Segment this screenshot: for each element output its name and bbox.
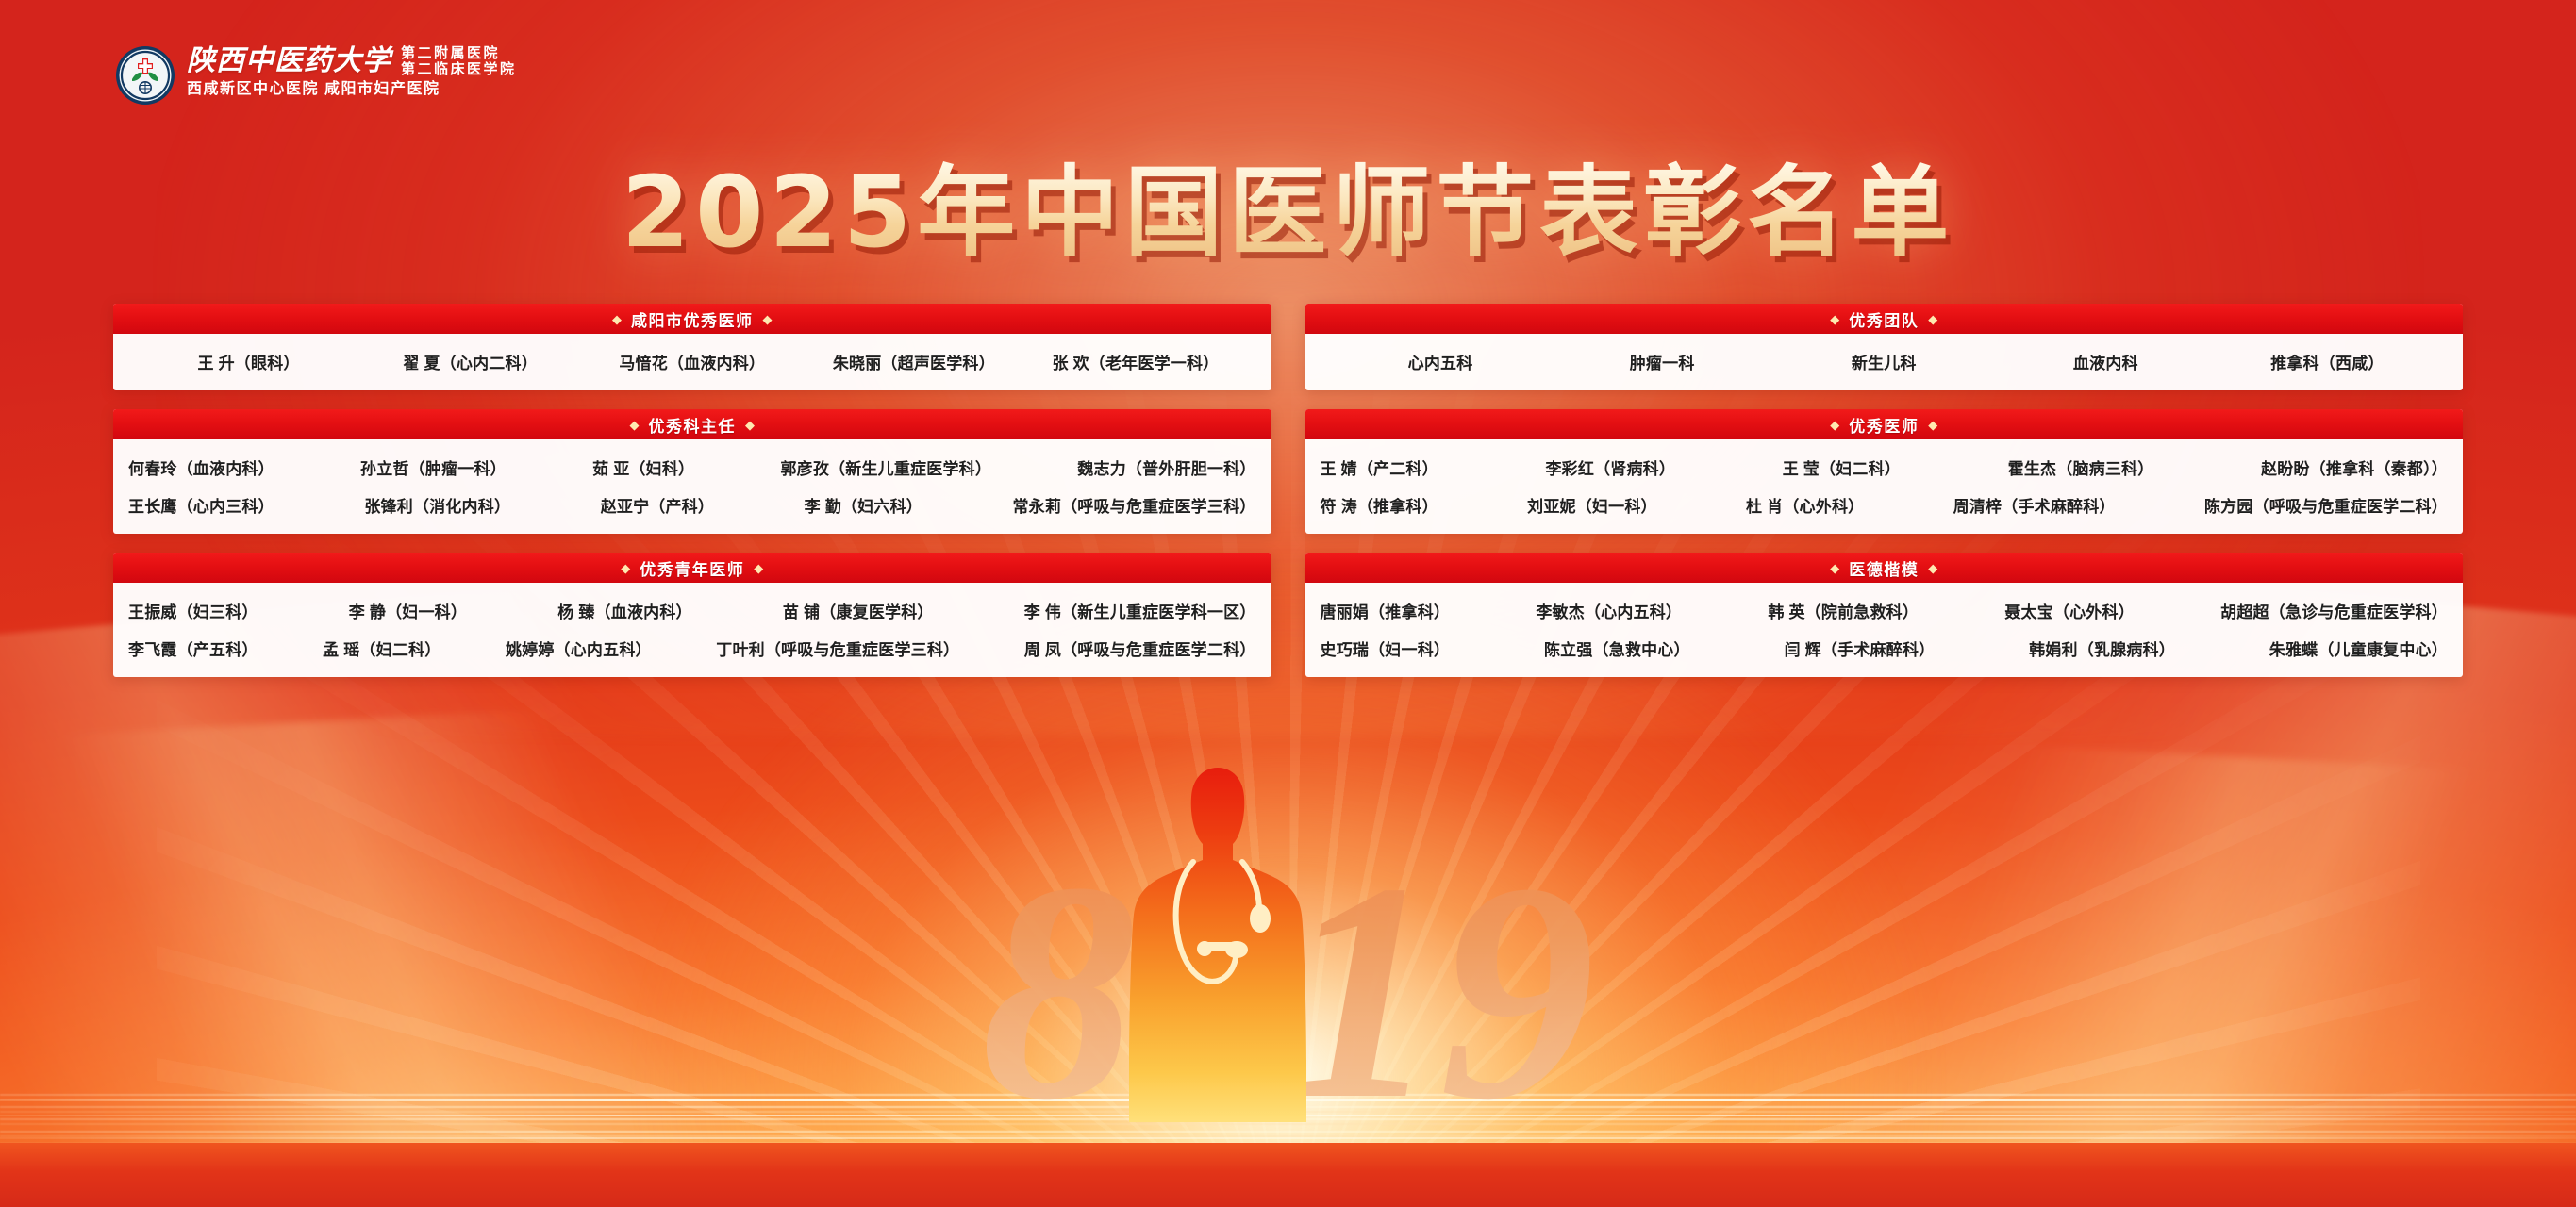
awardee: 霍生杰（脑病三科） [2008,455,2154,479]
diamond-left-icon: ◆ [630,419,640,431]
panel-title: 优秀青年医师 [640,556,744,580]
award-row: 唐丽娟（推拿科） 李敏杰（心内五科） 韩 英（院前急救科） 聂太宝（心外科） 胡… [1321,591,2449,629]
awardee: 王长鹰（心内三科） [128,493,274,517]
panel-medical-ethics-model: ◆ 医德楷模 ◆ 唐丽娟（推拿科） 李敏杰（心内五科） 韩 英（院前急救科） 聂… [1305,553,2464,677]
panel-header: ◆ 优秀团队 ◆ [1305,304,2464,334]
panel-header: ◆ 优秀医师 ◆ [1305,409,2464,439]
awardee: 心内五科 [1330,350,1552,373]
diamond-left-icon: ◆ [1830,562,1839,574]
institution-logo-block: 陕西中医药大学 第二附属医院 第二临床医学院 西咸新区中心医院 咸阳市妇产医院 [115,45,517,106]
awardee: 翟 夏（心内二科） [359,350,581,373]
awardee: 韩 英（院前急救科） [1768,599,1919,622]
awardee: 王 升（眼科） [138,350,359,373]
award-row: 心内五科 肿瘤一科 新生儿科 血液内科 推拿科（西咸） [1330,342,2439,380]
awardee: 赵亚宁（产科） [601,493,714,517]
awardee: 苗 铺（康复医学科） [783,599,934,622]
poster-canvas: 陕西中医药大学 第二附属医院 第二临床医学院 西咸新区中心医院 咸阳市妇产医院 … [0,0,2576,1207]
panel-body: 心内五科 肿瘤一科 新生儿科 血液内科 推拿科（西咸） [1305,334,2464,390]
panel-excellent-young-physician: ◆ 优秀青年医师 ◆ 王振威（妇三科） 李 静（妇一科） 杨 臻（血液内科） 苗… [113,553,1271,677]
awardee: 血液内科 [1995,350,2217,373]
awardee: 符 涛（推拿科） [1321,493,1438,517]
panel-body: 唐丽娟（推拿科） 李敏杰（心内五科） 韩 英（院前急救科） 聂太宝（心外科） 胡… [1305,583,2464,677]
awardee: 陈方园（呼吸与危重症医学二科） [2204,493,2448,517]
awardee: 史巧瑞（妇一科） [1321,637,1451,660]
awardee: 李 勤（妇六科） [805,493,922,517]
doctor-silhouette-with-stethoscope-icon [1076,756,1359,1133]
awardee: 新生儿科 [1773,350,1995,373]
awardee: 周 凤（呼吸与危重症医学二科） [1024,637,1256,660]
award-panels-grid: ◆ 咸阳市优秀医师 ◆ 王 升（眼科） 翟 夏（心内二科） 马愔花（血液内科） … [0,304,2576,677]
awardee: 胡超超（急诊与危重症医学科） [2220,599,2448,622]
diamond-right-icon: ◆ [763,313,773,325]
panel-title: 优秀科主任 [649,413,737,437]
affiliation-line-2: 第二临床医学院 [401,61,517,77]
awardee: 李敏杰（心内五科） [1536,599,1682,622]
award-row: 史巧瑞（妇一科） 陈立强（急救中心） 闫 辉（手术麻醉科） 韩娟利（乳腺病科） … [1321,629,2449,667]
awardee: 魏志力（普外肝胆一科） [1077,455,1255,479]
award-row: 王 婧（产二科） 李彩红（肾病科） 王 莹（妇二科） 霍生杰（脑病三科） 赵盼盼… [1321,448,2449,486]
panel-excellent-physician-xianyang: ◆ 咸阳市优秀医师 ◆ 王 升（眼科） 翟 夏（心内二科） 马愔花（血液内科） … [113,304,1271,390]
awardee: 推拿科（西咸） [2217,350,2438,373]
awardee: 闫 辉（手术麻醉科） [1785,637,1936,660]
panel-header: ◆ 咸阳市优秀医师 ◆ [113,304,1271,334]
awardee: 王 莹（妇二科） [1783,455,1901,479]
panel-body: 王 婧（产二科） 李彩红（肾病科） 王 莹（妇二科） 霍生杰（脑病三科） 赵盼盼… [1305,439,2464,534]
awardee: 郭彦孜（新生儿重症医学科） [780,455,991,479]
awardee: 王振威（妇三科） [128,599,258,622]
awardee: 李 静（妇一科） [349,599,467,622]
panel-header: ◆ 优秀青年医师 ◆ [113,553,1271,583]
affiliation-line-1: 第二附属医院 [401,45,517,61]
diamond-right-icon: ◆ [1928,562,1937,574]
panel-body: 王振威（妇三科） 李 静（妇一科） 杨 臻（血液内科） 苗 铺（康复医学科） 李… [113,583,1271,677]
panel-excellent-team: ◆ 优秀团队 ◆ 心内五科 肿瘤一科 新生儿科 血液内科 推拿科（西咸） [1305,304,2464,390]
award-row: 符 涛（推拿科） 刘亚妮（妇一科） 杜 肖（心外科） 周清梓（手术麻醉科） 陈方… [1321,486,2449,523]
awardee: 肿瘤一科 [1552,350,1773,373]
awardee: 聂太宝（心外科） [2004,599,2135,622]
awardee: 陈立强（急救中心） [1544,637,1690,660]
diamond-right-icon: ◆ [1928,313,1937,325]
awardee: 孟 瑶（妇二科） [323,637,440,660]
awardee: 李飞霞（产五科） [128,637,258,660]
panel-title: 医德楷模 [1849,556,1919,580]
panel-body: 王 升（眼科） 翟 夏（心内二科） 马愔花（血液内科） 朱晓丽（超声医学科） 张… [113,334,1271,390]
hospital-emblem-icon [115,45,175,106]
awardee: 茹 亚（妇科） [592,455,694,479]
awardee: 杜 肖（心外科） [1746,493,1864,517]
awardee: 马愔花（血液内科） [581,350,803,373]
award-row: 李飞霞（产五科） 孟 瑶（妇二科） 姚婷婷（心内五科） 丁叶利（呼吸与危重症医学… [128,629,1256,667]
awardee: 张 欢（老年医学一科） [1024,350,1246,373]
diamond-left-icon: ◆ [612,313,622,325]
panel-excellent-department-director: ◆ 优秀科主任 ◆ 何春玲（血液内科） 孙立哲（肿瘤一科） 茹 亚（妇科） 郭彦… [113,409,1271,534]
awardee: 丁叶利（呼吸与危重症医学三科） [716,637,959,660]
awardee: 何春玲（血液内科） [128,455,274,479]
award-row: 王 升（眼科） 翟 夏（心内二科） 马愔花（血液内科） 朱晓丽（超声医学科） 张… [138,342,1247,380]
diamond-left-icon: ◆ [1830,313,1839,325]
awardee: 赵盼盼（推拿科（秦都）） [2261,455,2448,479]
awardee: 唐丽娟（推拿科） [1321,599,1451,622]
awardee: 常永莉（呼吸与危重症医学三科） [1012,493,1255,517]
panel-title: 咸阳市优秀医师 [631,307,754,331]
diamond-left-icon: ◆ [1830,419,1839,431]
university-name: 陕西中医药大学 [187,45,391,77]
awardee: 孙立哲（肿瘤一科） [360,455,507,479]
awardee: 周清梓（手术麻醉科） [1953,493,2116,517]
awardee: 李彩红（肾病科） [1545,455,1675,479]
panel-header: ◆ 医德楷模 ◆ [1305,553,2464,583]
awardee: 韩娟利（乳腺病科） [2029,637,2175,660]
awardee: 李 伟（新生儿重症医学科一区） [1024,599,1256,622]
panel-header: ◆ 优秀科主任 ◆ [113,409,1271,439]
panel-title: 优秀团队 [1849,307,1919,331]
diamond-left-icon: ◆ [621,562,630,574]
awardee: 朱雅蝶（儿童康复中心） [2269,637,2448,660]
awardee: 王 婧（产二科） [1321,455,1438,479]
awardee: 刘亚妮（妇一科） [1527,493,1657,517]
award-row: 王振威（妇三科） 李 静（妇一科） 杨 臻（血液内科） 苗 铺（康复医学科） 李… [128,591,1256,629]
hospital-names: 西咸新区中心医院 咸阳市妇产医院 [187,80,517,98]
panel-excellent-physician: ◆ 优秀医师 ◆ 王 婧（产二科） 李彩红（肾病科） 王 莹（妇二科） 霍生杰（… [1305,409,2464,534]
awardee: 杨 臻（血液内科） [557,599,692,622]
awardee: 姚婷婷（心内五科） [506,637,652,660]
awardee: 张锋利（消化内科） [364,493,510,517]
diamond-right-icon: ◆ [1928,419,1937,431]
diamond-right-icon: ◆ [745,419,755,431]
panel-title: 优秀医师 [1849,413,1919,437]
panel-body: 何春玲（血液内科） 孙立哲（肿瘤一科） 茹 亚（妇科） 郭彦孜（新生儿重症医学科… [113,439,1271,534]
awardee: 朱晓丽（超声医学科） [803,350,1024,373]
award-row: 何春玲（血液内科） 孙立哲（肿瘤一科） 茹 亚（妇科） 郭彦孜（新生儿重症医学科… [128,448,1256,486]
diamond-right-icon: ◆ [754,562,763,574]
date-graphic: 8 [817,737,1760,1133]
award-row: 王长鹰（心内三科） 张锋利（消化内科） 赵亚宁（产科） 李 勤（妇六科） 常永莉… [128,486,1256,523]
